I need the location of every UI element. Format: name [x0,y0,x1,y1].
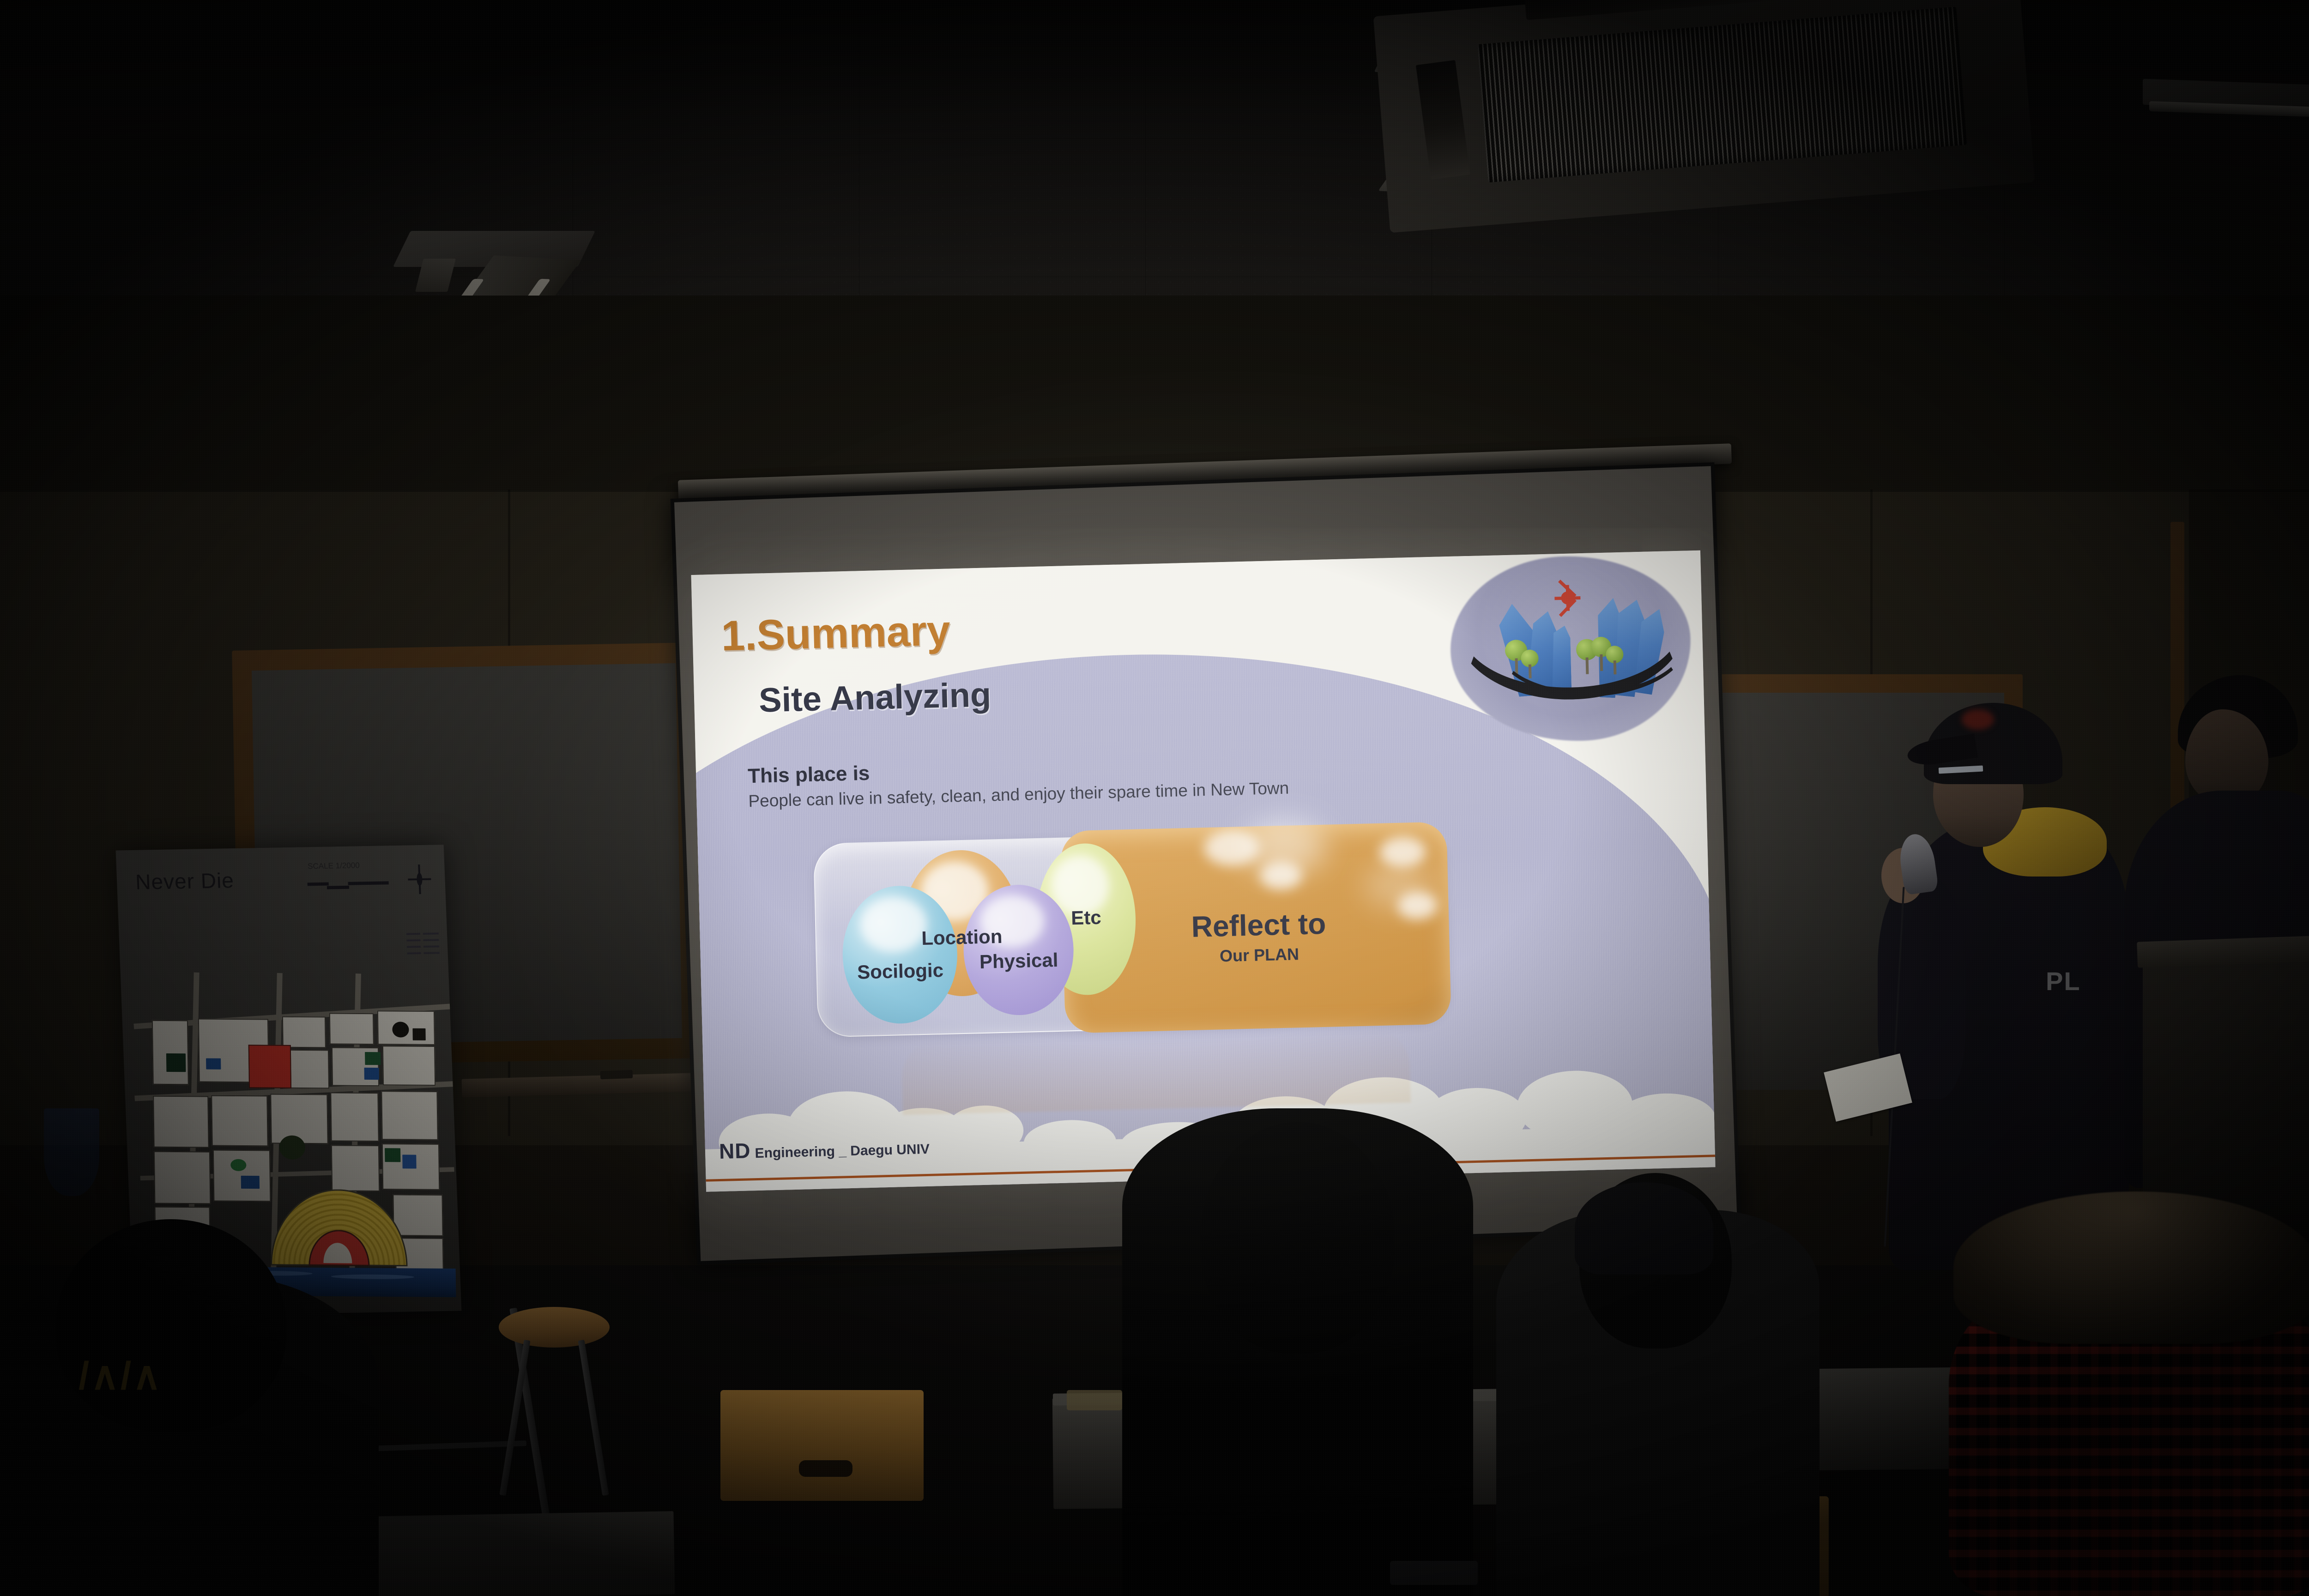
poster-title: Never Die [135,868,235,895]
artwork-sun-ray [1554,596,1580,600]
poster-scale-bar [307,880,391,890]
map-marker [364,1068,379,1080]
audience-center-head [1201,1122,1395,1353]
bubble-label: Location [921,925,1003,949]
audience-right-cap [1575,1182,1713,1275]
stool-seat [499,1307,610,1348]
map-block [211,1095,268,1147]
whiteboard-marker [600,1070,633,1079]
presenter: PL [1861,683,2157,1265]
water-wave [331,1274,414,1279]
footer-brand: ND [719,1138,751,1164]
lecture-hall-photo: Never Die SCALE 1/2000 [0,0,2309,1596]
chair-center [720,1390,924,1593]
audience-front-left-head [55,1219,286,1432]
map-block [282,1016,326,1048]
map-marker [412,1028,425,1040]
map-marker [385,1148,400,1162]
map-marker-park [279,1136,305,1160]
slide-title: 1.Summary [721,606,951,660]
audience-jacket-graphic: /∧/∧ [79,1353,163,1398]
map-block [270,1094,328,1144]
slide-city-artwork [1448,553,1693,744]
footer-department: Engineering _ Daegu UNIV [755,1142,930,1161]
chair-backrest [720,1390,924,1501]
map-marker [206,1058,221,1070]
desk-item-snack [1067,1390,1122,1410]
poster-scale-label: SCALE 1/2000 [308,861,360,871]
poster-legend [406,932,441,960]
map-marker [402,1155,416,1168]
map-marker [392,1022,409,1037]
bubble-label: Physical [979,949,1058,973]
map-block [329,1013,374,1045]
map-marker [230,1159,246,1171]
map-block [330,1092,379,1142]
slide-subtitle: Site Analyzing [758,675,991,719]
fur-hood [1953,1191,2309,1344]
slide-bubble-diagram: Reflect to Our PLAN Location Etc Physica… [813,828,1451,1037]
map-block-landmark [248,1045,291,1088]
map-block [154,1151,211,1204]
map-block [393,1194,443,1236]
bubble-sheen [859,896,927,953]
map-marker [166,1053,186,1072]
presenter-cap-accent [1962,709,1994,730]
map-block [152,1020,189,1085]
bubble-label: Socilogic [857,959,944,984]
compass-rose-icon [407,864,431,895]
map-block [381,1091,438,1140]
map-block [153,1096,209,1148]
map-block [382,1046,435,1086]
fluorescent-light-far-right [2143,83,2309,143]
stool-leg [578,1340,609,1496]
slide-footer: ND Engineering _ Daegu UNIV [719,1134,930,1164]
stool-right [499,1307,610,1501]
diagram-goal-text: Reflect to Our PLAN [1074,906,1445,970]
map-block [331,1145,380,1191]
slide-lead-text: This place is [748,762,870,788]
presenter-jacket-logo: PL [2046,966,2081,996]
map-marker [365,1052,381,1065]
chair-handle-slot [799,1460,852,1477]
desk-item-phone [1390,1561,1478,1585]
wall-emblem [44,1108,99,1196]
projected-slide: 1.Summary Site Analyzing This place is P… [691,550,1716,1192]
map-marker [241,1176,260,1189]
stool-leg [499,1340,530,1496]
